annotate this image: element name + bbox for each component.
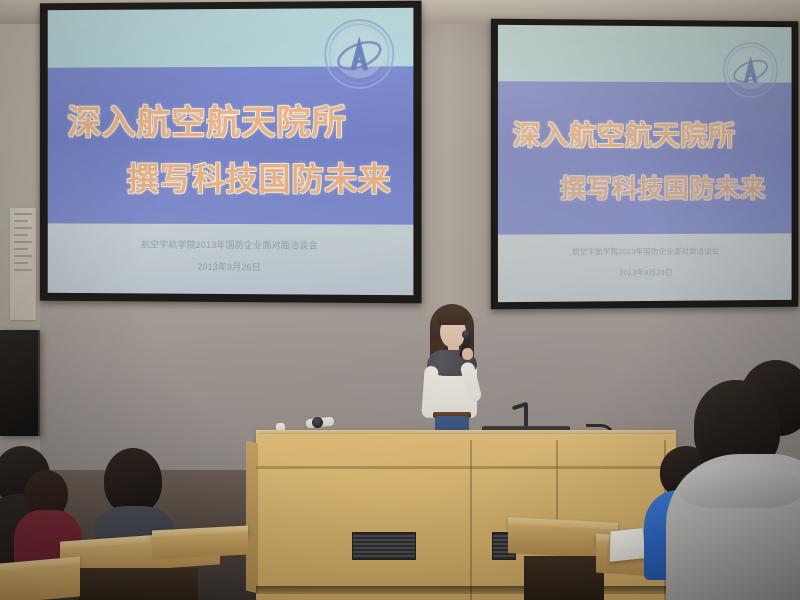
slide-title-line-2: 撰写科技国防未来 xyxy=(560,169,765,205)
slide-subtitle-line-2: 2013年9月26日 xyxy=(498,266,792,279)
microphone-head-icon xyxy=(462,330,471,339)
podium-vent-grille xyxy=(352,532,416,560)
lecture-hall-photo: 深入航空航天院所 撰写科技国防未来 航空宇航学院2013年国防企业面对面洽谈会 … xyxy=(0,0,800,600)
slide-title-line-1: 深入航空航天院所 xyxy=(67,94,346,143)
university-crest-logo xyxy=(722,40,780,99)
podium-base-shadow xyxy=(256,586,676,594)
presenter-bangs xyxy=(437,309,469,325)
slide-band-bottom xyxy=(48,224,414,296)
wall-between-screens xyxy=(418,18,490,318)
left-projection-screen: 深入航空航天院所 撰写科技国防未来 航空宇航学院2013年国防企业面对面洽谈会 … xyxy=(40,1,422,304)
wall-mounted-display xyxy=(0,330,40,436)
slide-subtitle-line-1: 航空宇航学院2013年国防企业面对面洽谈会 xyxy=(498,245,792,257)
right-projection-screen: 深入航空航天院所 撰写科技国防未来 航空宇航学院2013年国防企业面对面洽谈会 … xyxy=(491,19,799,310)
slide-band-top xyxy=(498,25,792,83)
student-desk-underside xyxy=(524,556,604,600)
student-gray-hoodie xyxy=(672,380,800,600)
document-camera-lens-icon xyxy=(312,417,323,428)
university-crest-logo xyxy=(323,16,397,90)
slide-band-top xyxy=(48,8,414,68)
presenter-hand xyxy=(462,348,473,360)
podium xyxy=(256,434,676,600)
student-head xyxy=(104,448,162,514)
slide-title-line-1: 深入航空航天院所 xyxy=(513,114,736,153)
slide-band-middle xyxy=(48,67,414,225)
posted-notice xyxy=(10,208,36,320)
student-desk-front xyxy=(0,565,80,600)
slide-subtitle-line-2: 2013年9月26日 xyxy=(48,259,414,274)
podium-panel-seam xyxy=(470,440,472,600)
right-slide: 深入航空航天院所 撰写科技国防未来 航空宇航学院2013年国防企业面对面洽谈会 … xyxy=(498,25,792,302)
student-desk-underside xyxy=(78,568,198,600)
slide-band-bottom xyxy=(498,233,792,302)
podium-left-side xyxy=(246,441,258,594)
slide-title-line-2: 撰写科技国防未来 xyxy=(127,154,391,200)
slide-band-middle xyxy=(498,82,792,235)
slide-subtitle-line-1: 航空宇航学院2013年国防企业面对面洽谈会 xyxy=(48,238,414,253)
left-slide: 深入航空航天院所 撰写科技国防未来 航空宇航学院2013年国防企业面对面洽谈会 … xyxy=(48,8,414,295)
hoodie-hood xyxy=(680,462,800,508)
podium-edge-rail xyxy=(256,466,676,469)
